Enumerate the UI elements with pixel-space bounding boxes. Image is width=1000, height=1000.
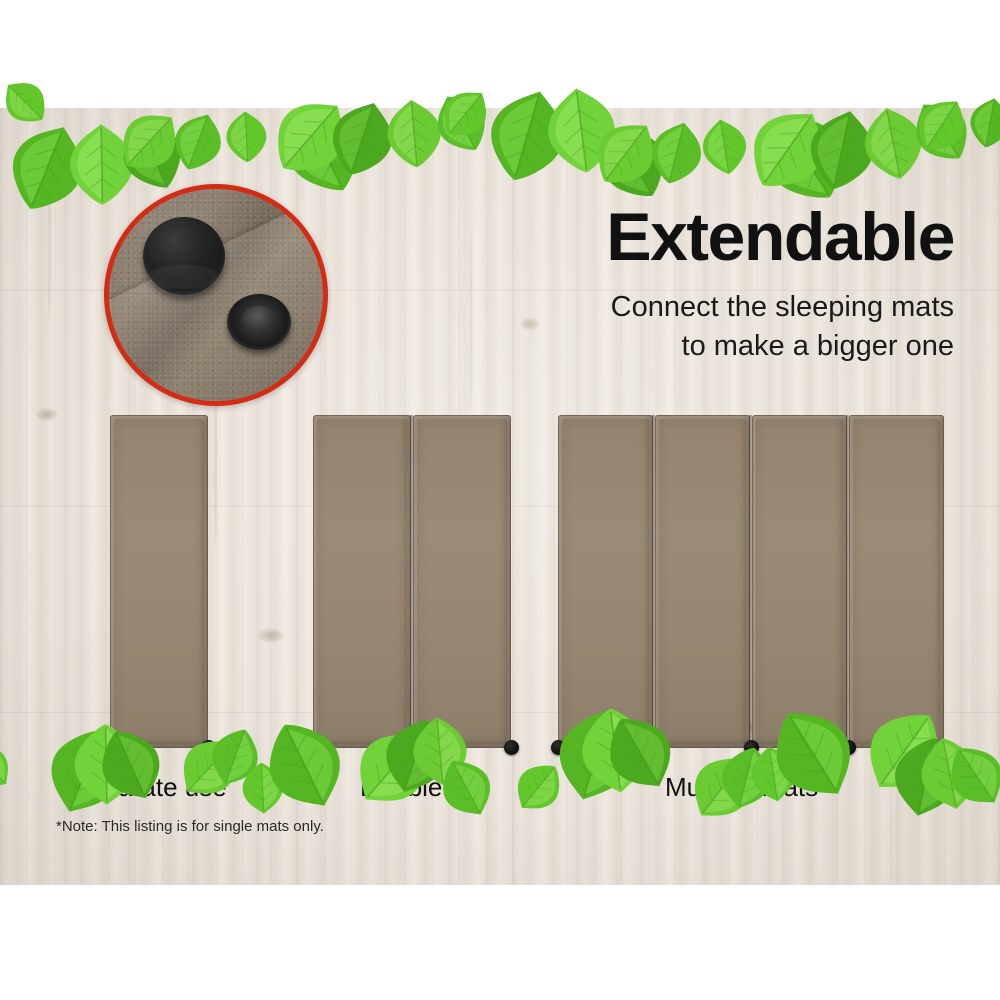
sleeping-mat (110, 415, 208, 748)
mat-group-separate (110, 415, 208, 748)
sleeping-mat (413, 415, 511, 748)
footnote: *Note: This listing is for single mats o… (56, 818, 324, 835)
subtitle-line-1: Connect the sleeping mats (434, 288, 954, 327)
mat-group-double (313, 415, 511, 748)
sleeping-mat (849, 415, 944, 748)
snap-button-dot-icon (551, 740, 566, 755)
sleeping-mat (752, 415, 847, 748)
snap-fastener-closeup-inset (104, 184, 328, 406)
snap-button-dot-icon (841, 740, 856, 755)
subtitle-line-2: to make a bigger one (434, 327, 954, 366)
snap-button-dot-icon (201, 740, 216, 755)
snap-button-dot-icon (504, 740, 519, 755)
sleeping-mat (313, 415, 411, 748)
caption-double: Double (360, 772, 442, 803)
caption-multiple: Multiple mats (665, 772, 818, 803)
page-subtitle: Connect the sleeping mats to make a bigg… (434, 288, 954, 365)
snap-button-dot-icon (306, 740, 321, 755)
snap-button-dot-icon (103, 740, 118, 755)
snap-button-dot-icon (405, 740, 420, 755)
snap-button-dot-icon (937, 740, 952, 755)
snap-button-cap-icon (143, 217, 225, 295)
snap-button-socket-icon (227, 294, 291, 350)
product-feature-image: Extendable Connect the sleeping mats to … (0, 0, 1000, 1000)
fabric-texture (109, 189, 323, 401)
sleeping-mat (655, 415, 750, 748)
sleeping-mat (558, 415, 653, 748)
mat-group-multiple (558, 415, 944, 748)
snap-button-dot-icon (744, 740, 759, 755)
snap-button-dot-icon (648, 740, 663, 755)
page-title: Extendable (434, 203, 954, 271)
caption-separate: Separate use (72, 772, 227, 803)
